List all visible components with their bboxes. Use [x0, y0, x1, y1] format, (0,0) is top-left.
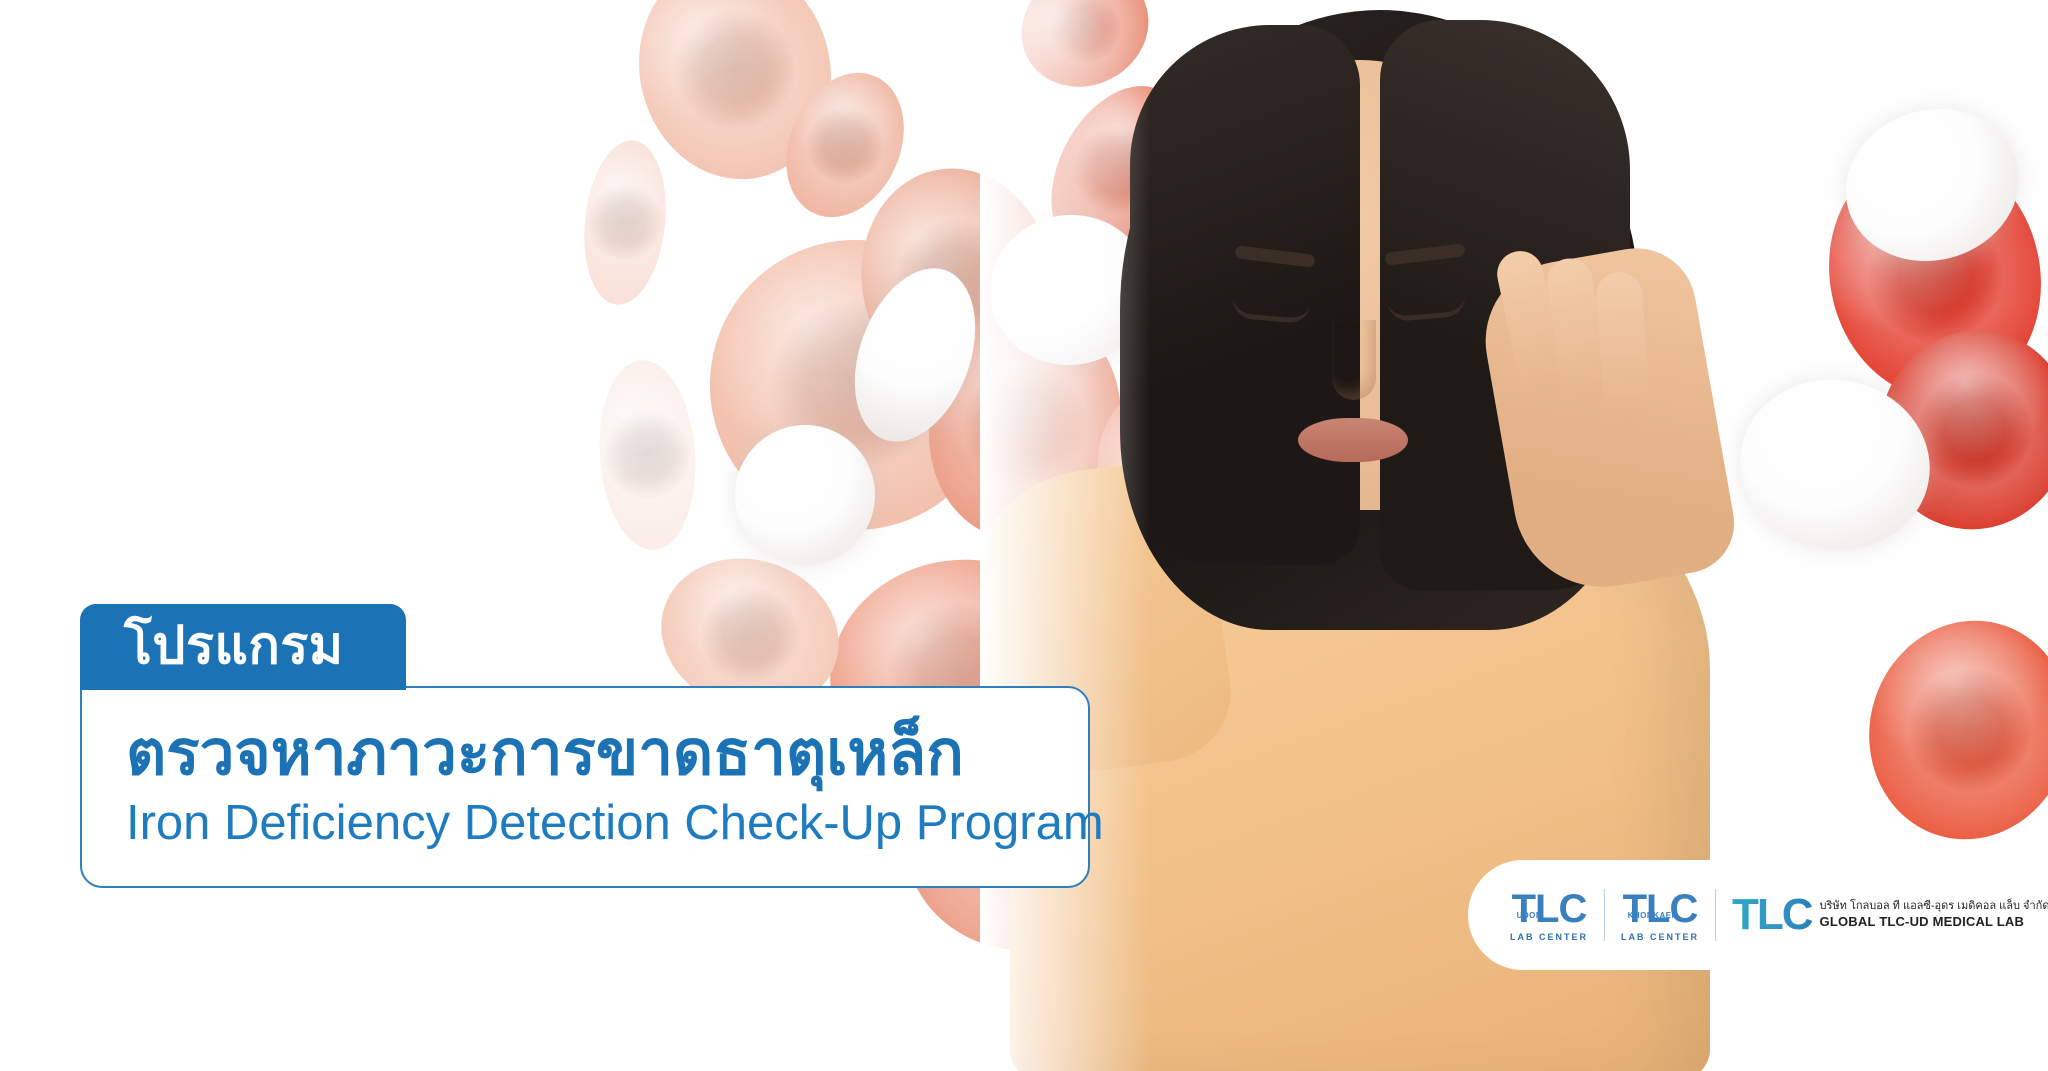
tlc-khonkaen-wordmark: TLC KHONKAEN	[1623, 889, 1698, 929]
nose	[1332, 320, 1376, 400]
tlc-khonkaen-subtitle: LAB CENTER	[1621, 932, 1699, 942]
logo-tlc-khonkaen: TLC KHONKAEN LAB CENTER	[1621, 889, 1699, 942]
logo-bar: TLC UDON LAB CENTER TLC KHONKAEN LAB CEN…	[1468, 860, 2048, 970]
red-blood-cell-icon	[593, 357, 701, 553]
company-name-english: GLOBAL TLC-UD MEDICAL LAB	[1820, 914, 2048, 930]
company-name-thai: บริษัท โกลบอล ที แอลซี-อุดร เมดิคอล แล็บ…	[1820, 900, 2048, 914]
page-title-thai: ตรวจหาภาวะการขาดธาตุเหล็ก	[126, 718, 1044, 789]
red-blood-cell-icon	[577, 136, 674, 308]
headline-block: โปรแกรม ตรวจหาภาวะการขาดธาตุเหล็ก Iron D…	[80, 604, 1090, 888]
tlc-khonkaen-letters: TLC	[1623, 887, 1698, 931]
headline-card: ตรวจหาภาวะการขาดธาตุเหล็ก Iron Deficienc…	[80, 686, 1090, 888]
logo-divider	[1604, 889, 1605, 941]
tlc-khonkaen-mark-text: TLC KHONKAEN	[1623, 889, 1698, 929]
banner-root: โปรแกรม ตรวจหาภาวะการขาดธาตุเหล็ก Iron D…	[0, 0, 2048, 1071]
tlc-udon-letters: TLC	[1512, 887, 1587, 931]
hair-front-left	[1130, 25, 1360, 565]
tlc-khonkaen-badge: KHONKAEN	[1628, 912, 1678, 920]
global-tlc-company: บริษัท โกลบอล ที แอลซี-อุดร เมดิคอล แล็บ…	[1820, 900, 2048, 930]
logo-tlc-udon: TLC UDON LAB CENTER	[1510, 889, 1588, 942]
logo-divider	[1715, 889, 1716, 941]
tlc-udon-badge: UDON	[1517, 912, 1543, 920]
global-tlc-mark: TLC	[1732, 893, 1812, 937]
program-tab-label: โปรแกรม	[80, 604, 406, 690]
tlc-udon-subtitle: LAB CENTER	[1510, 932, 1588, 942]
tlc-udon-mark-text: TLC UDON	[1512, 889, 1587, 929]
photo-edge-fade	[980, 0, 1150, 1071]
mouth	[1298, 418, 1408, 462]
logo-global-tlc: TLC บริษัท โกลบอล ที แอลซี-อุดร เมดิคอล …	[1732, 893, 2048, 937]
page-title-english: Iron Deficiency Detection Check-Up Progr…	[126, 795, 1044, 851]
tlc-udon-wordmark: TLC UDON	[1512, 889, 1587, 929]
